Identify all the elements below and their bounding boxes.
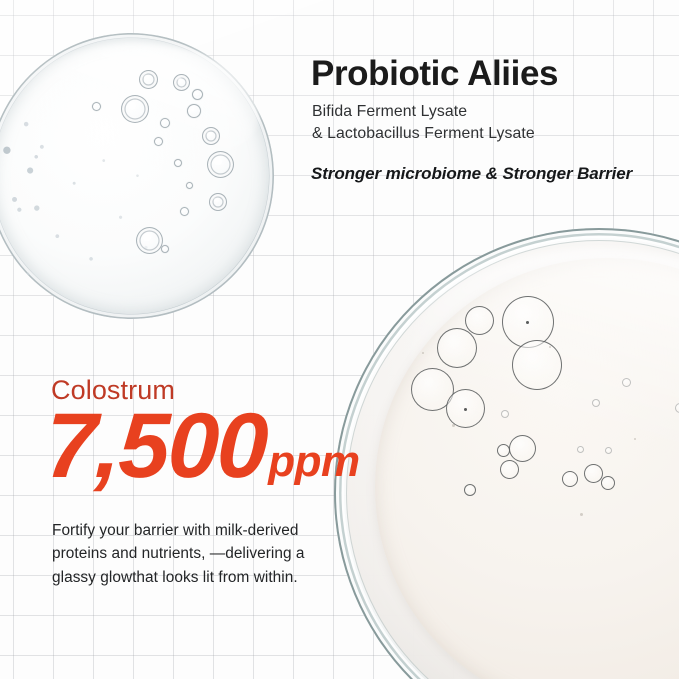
milk-bubble [437,328,477,368]
gel-bubble [174,159,182,167]
milk-bubble [465,306,494,335]
milk-bubble [501,410,509,418]
medium-speck [422,352,424,354]
colostrum-amount-value: 7,500 [45,404,268,489]
milk-bubble [675,403,679,413]
milk-bubble [601,476,615,490]
gel-bubble [207,151,234,178]
milk-bubble [562,471,578,487]
colostrum-amount: 7,500 ppm [46,404,360,489]
medium-speck [452,424,455,427]
probiotic-headline: Probiotic Aliies [311,55,558,94]
milk-bubble [446,389,485,428]
gel-bubble [136,227,163,254]
milk-bubble [622,378,631,387]
product-infographic: Probiotic Aliies Bifida Ferment Lysate &… [0,0,679,679]
probiotic-ingredients: Bifida Ferment Lysate & Lactobacillus Fe… [312,101,535,146]
milk-bubble [592,399,600,407]
gel-bubble [92,102,101,111]
colostrum-description: Fortify your barrier with milk-derived p… [52,519,362,589]
gel-bubble [161,245,169,253]
medium-speck [580,513,583,516]
gel-bubble [186,182,193,189]
milk-bubble [497,444,510,457]
milk-bubble [605,447,612,454]
gel-bubble [121,95,149,123]
milk-bubble [500,460,519,479]
gel-bubble [173,74,190,91]
gel-bubble [154,137,163,146]
gel-bubble [160,118,170,128]
probiotic-tagline: Stronger microbiome & Stronger Barrier [311,164,632,184]
gel-petri-dish-image [0,33,274,319]
milk-bubble [509,435,536,462]
colostrum-petri-dish-image [334,228,679,679]
milk-bubble [584,464,603,483]
milk-bubble [512,340,562,390]
gel-bubble [192,89,203,100]
gel-bubble [202,127,220,145]
gel-bubble [187,104,201,118]
milk-bubble [502,296,554,348]
milk-bubble [464,484,476,496]
medium-speck [634,438,636,440]
gel-bubble [139,70,158,89]
gel-bubble [180,207,189,216]
colostrum-amount-unit: ppm [268,440,359,489]
medium-speck [549,346,551,348]
milk-bubble [577,446,584,453]
gel-bubble [209,193,227,211]
